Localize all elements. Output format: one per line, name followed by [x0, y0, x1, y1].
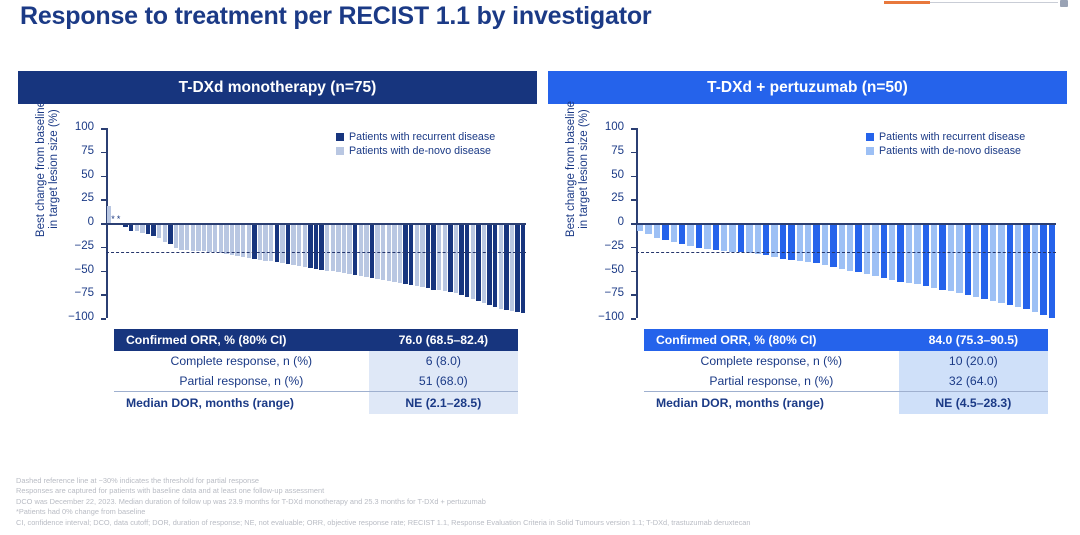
waterfall-bar: [805, 223, 812, 262]
panel-right: T-DXd + pertuzumab (n=50) Best change fr…: [548, 71, 1067, 414]
waterfall-bar: [364, 223, 368, 277]
waterfall-bar: [521, 223, 525, 313]
chrome-divider-line: [930, 2, 1058, 3]
waterfall-bar: [359, 223, 363, 276]
waterfall-bar: [948, 223, 955, 291]
waterfall-bar: [654, 223, 661, 238]
waterfall-bar: [146, 223, 150, 234]
y-tick-label: −25: [590, 240, 624, 252]
y-axis-label-line2: in target lesion size (%): [578, 109, 590, 229]
y-tick-label: −50: [60, 264, 94, 276]
y-tick-label: −100: [60, 311, 94, 323]
waterfall-bar: [998, 223, 1005, 303]
y-axis-label-right: Best change from baseline in target lesi…: [565, 99, 591, 239]
y-tick-label: −100: [590, 311, 624, 323]
reference-line-minus30: [106, 252, 526, 253]
y-axis-label-left: Best change from baseline in target lesi…: [35, 99, 61, 239]
dor-label: Median DOR, months (range): [644, 392, 899, 415]
table-row-orr: Confirmed ORR, % (80% CI) 84.0 (75.3–90.…: [644, 329, 1048, 351]
y-tick-label: 50: [60, 169, 94, 181]
waterfall-bar: [202, 223, 206, 251]
waterfall-bar: [347, 223, 351, 274]
y-tick-label: 100: [590, 121, 624, 133]
partial-response-value: 32 (64.0): [899, 371, 1048, 392]
waterfall-bar: [409, 223, 413, 285]
waterfall-bar: [515, 223, 519, 312]
waterfall-bar: [207, 223, 211, 252]
waterfall-bar: [499, 223, 503, 309]
panel-left: T-DXd monotherapy (n=75) Best change fro…: [18, 71, 537, 414]
waterfall-bar: [420, 223, 424, 287]
waterfall-bar: [331, 223, 335, 271]
waterfall-bar: [981, 223, 988, 299]
waterfall-bar: [258, 223, 262, 260]
legend-swatch-denovo-icon: [866, 147, 874, 155]
partial-response-value: 51 (68.0): [369, 371, 518, 392]
waterfall-bar: [263, 223, 267, 261]
footnote-line: CI, confidence interval; DCO, data cutof…: [16, 518, 1066, 528]
y-tick-label: −50: [590, 264, 624, 276]
y-tick-label: 25: [60, 192, 94, 204]
waterfall-bar: [813, 223, 820, 263]
waterfall-bar: [252, 223, 256, 259]
waterfall-bar: [687, 223, 694, 246]
complete-response-value: 10 (20.0): [899, 351, 1048, 371]
dor-value: NE (4.5–28.3): [899, 392, 1048, 415]
y-tick-label: 0: [590, 216, 624, 228]
table-row-orr: Confirmed ORR, % (80% CI) 76.0 (68.5–82.…: [114, 329, 518, 351]
waterfall-bar: [230, 223, 234, 255]
waterfall-bar: [174, 223, 178, 248]
waterfall-bar: [459, 223, 463, 295]
y-tick-label: 75: [590, 145, 624, 157]
waterfall-bar: [303, 223, 307, 267]
y-axis-label-line2: in target lesion size (%): [48, 109, 60, 229]
legend-label-recurrent: Patients with recurrent disease: [879, 130, 1025, 144]
waterfall-bar: [1049, 223, 1056, 318]
partial-response-label: Partial response, n (%): [644, 371, 899, 392]
table-row-partial-response: Partial response, n (%) 32 (64.0): [644, 371, 1048, 392]
legend-right: Patients with recurrent disease Patients…: [866, 130, 1025, 158]
waterfall-bar: [763, 223, 770, 255]
waterfall-bar: [931, 223, 938, 288]
waterfall-bar: [923, 223, 930, 286]
y-tick-label: 0: [60, 216, 94, 228]
waterfall-bar: [308, 223, 312, 268]
table-row-dor: Median DOR, months (range) NE (2.1–28.5): [114, 392, 518, 415]
waterfall-bar: [956, 223, 963, 293]
waterfall-bar: [314, 223, 318, 269]
legend-label-denovo: Patients with de-novo disease: [349, 144, 491, 158]
waterfall-bar: [185, 223, 189, 250]
orr-value: 84.0 (75.3–90.5): [899, 329, 1048, 351]
waterfall-bar: [679, 223, 686, 244]
table-row-complete-response: Complete response, n (%) 6 (8.0): [114, 351, 518, 371]
waterfall-bar: [755, 223, 762, 254]
footnote-line: *Patients had 0% change from baseline: [16, 507, 1066, 517]
waterfall-bar: [830, 223, 837, 267]
footnotes: Dashed reference line at −30% indicates …: [16, 476, 1066, 528]
waterfall-bar: [939, 223, 946, 290]
footnote-line: Responses are captured for patients with…: [16, 486, 1066, 496]
waterfall-bar: [342, 223, 346, 273]
panel-left-header: T-DXd monotherapy (n=75): [18, 71, 537, 104]
table-row-complete-response: Complete response, n (%) 10 (20.0): [644, 351, 1048, 371]
legend-label-denovo: Patients with de-novo disease: [879, 144, 1021, 158]
waterfall-bar: [864, 223, 871, 274]
waterfall-bar: [746, 223, 753, 253]
legend-swatch-recurrent-icon: [866, 133, 874, 141]
complete-response-label: Complete response, n (%): [644, 351, 899, 371]
waterfall-bar: [471, 223, 475, 299]
waterfall-bar: [431, 223, 435, 290]
waterfall-bar: [822, 223, 829, 265]
waterfall-bar: [191, 223, 195, 251]
legend-label-recurrent: Patients with recurrent disease: [349, 130, 495, 144]
waterfall-bar: [788, 223, 795, 260]
waterfall-bar: [872, 223, 879, 276]
waterfall-bar: [1040, 223, 1047, 315]
panel-right-header: T-DXd + pertuzumab (n=50): [548, 71, 1067, 104]
waterfall-bar: [504, 223, 508, 310]
chart-left: Best change from baseline in target lesi…: [18, 104, 537, 329]
waterfall-bar: [662, 223, 669, 240]
legend-swatch-denovo-icon: [336, 147, 344, 155]
waterfall-bar: [448, 223, 452, 292]
waterfall-bar: [437, 223, 441, 290]
dor-value: NE (2.1–28.5): [369, 392, 518, 415]
waterfall-bar: [671, 223, 678, 242]
complete-response-label: Complete response, n (%): [114, 351, 369, 371]
waterfall-bar: [224, 223, 228, 254]
waterfall-bar: [493, 223, 497, 307]
y-tick-label: 25: [590, 192, 624, 204]
chrome-icon: [1060, 0, 1068, 7]
y-tick-mark: [631, 318, 636, 320]
waterfall-bar: [855, 223, 862, 272]
waterfall-bar: [696, 223, 703, 248]
waterfall-bar: [415, 223, 419, 286]
waterfall-bar: [443, 223, 447, 291]
reference-line-minus30: [636, 252, 1056, 253]
waterfall-bar: [151, 223, 155, 236]
waterfall-bar: [163, 223, 167, 242]
waterfall-bar: [275, 223, 279, 262]
waterfall-bar: [704, 223, 711, 249]
waterfall-bar: [780, 223, 787, 259]
waterfall-bar: [247, 223, 251, 258]
chart-right: Best change from baseline in target lesi…: [548, 104, 1067, 329]
page-title: Response to treatment per RECIST 1.1 by …: [20, 2, 920, 31]
legend-item-recurrent: Patients with recurrent disease: [866, 130, 1025, 144]
partial-response-label: Partial response, n (%): [114, 371, 369, 392]
legend-left: Patients with recurrent disease Patients…: [336, 130, 495, 158]
waterfall-bar: [325, 223, 329, 271]
waterfall-bar: [1023, 223, 1030, 309]
waterfall-bar: [476, 223, 480, 301]
waterfall-bar: [465, 223, 469, 297]
waterfall-bar: [906, 223, 913, 283]
results-table-left: Confirmed ORR, % (80% CI) 76.0 (68.5–82.…: [114, 329, 518, 414]
waterfall-bar: [297, 223, 301, 266]
y-tick-label: −75: [60, 287, 94, 299]
legend-swatch-recurrent-icon: [336, 133, 344, 141]
waterfall-bar: [713, 223, 720, 250]
waterfall-bar: [797, 223, 804, 261]
waterfall-bar: [990, 223, 997, 301]
waterfall-bar: [510, 223, 514, 311]
waterfall-bar: [721, 223, 728, 251]
waterfall-bar: [839, 223, 846, 269]
waterfall-bar: [319, 223, 323, 270]
y-tick-label: −75: [590, 287, 624, 299]
waterfall-bar: [738, 223, 745, 252]
y-axis-label-line1: Best change from baseline: [565, 101, 577, 237]
y-tick-label: −25: [60, 240, 94, 252]
footnote-line: DCO was December 22, 2023. Median durati…: [16, 497, 1066, 507]
waterfall-bar: [286, 223, 290, 264]
legend-item-denovo: Patients with de-novo disease: [866, 144, 1025, 158]
y-axis-label-line1: Best change from baseline: [35, 101, 47, 237]
waterfall-bar: [729, 223, 736, 252]
waterfall-bar: [157, 223, 161, 238]
waterfall-bar: [291, 223, 295, 265]
waterfall-bar: [645, 223, 652, 234]
waterfall-bar: [398, 223, 402, 283]
legend-item-recurrent: Patients with recurrent disease: [336, 130, 495, 144]
waterfall-bar: [403, 223, 407, 284]
waterfall-bar: [179, 223, 183, 250]
waterfall-bar: [1007, 223, 1014, 305]
waterfall-bar: [482, 223, 486, 303]
waterfall-bar: [847, 223, 854, 271]
orr-label: Confirmed ORR, % (80% CI): [114, 329, 369, 351]
footnote-line: Dashed reference line at −30% indicates …: [16, 476, 1066, 486]
complete-response-value: 6 (8.0): [369, 351, 518, 371]
legend-item-denovo: Patients with de-novo disease: [336, 144, 495, 158]
dor-label: Median DOR, months (range): [114, 392, 369, 415]
waterfall-bar: [965, 223, 972, 295]
waterfall-bar: [213, 223, 217, 252]
waterfall-bar: [914, 223, 921, 284]
waterfall-bar: [219, 223, 223, 253]
waterfall-bar: [487, 223, 491, 305]
waterfall-bar: [280, 223, 284, 263]
waterfall-bar: [454, 223, 458, 293]
orr-label: Confirmed ORR, % (80% CI): [644, 329, 899, 351]
y-tick-label: 50: [590, 169, 624, 181]
waterfall-bar: [196, 223, 200, 251]
table-row-partial-response: Partial response, n (%) 51 (68.0): [114, 371, 518, 392]
waterfall-bar: [353, 223, 357, 275]
waterfall-bar: [1032, 223, 1039, 312]
waterfall-bar: [426, 223, 430, 288]
waterfall-bar: [168, 223, 172, 244]
waterfall-bar: [973, 223, 980, 297]
zero-axis-line: [636, 223, 1056, 225]
results-table-right: Confirmed ORR, % (80% CI) 84.0 (75.3–90.…: [644, 329, 1048, 414]
orr-value: 76.0 (68.5–82.4): [369, 329, 518, 351]
table-row-dor: Median DOR, months (range) NE (4.5–28.3): [644, 392, 1048, 415]
y-tick-label: 75: [60, 145, 94, 157]
y-tick-mark: [101, 318, 106, 320]
waterfall-bar: [269, 223, 273, 261]
zero-axis-line: [106, 223, 526, 225]
y-tick-label: 100: [60, 121, 94, 133]
waterfall-bar: [336, 223, 340, 272]
waterfall-bar: [1015, 223, 1022, 307]
